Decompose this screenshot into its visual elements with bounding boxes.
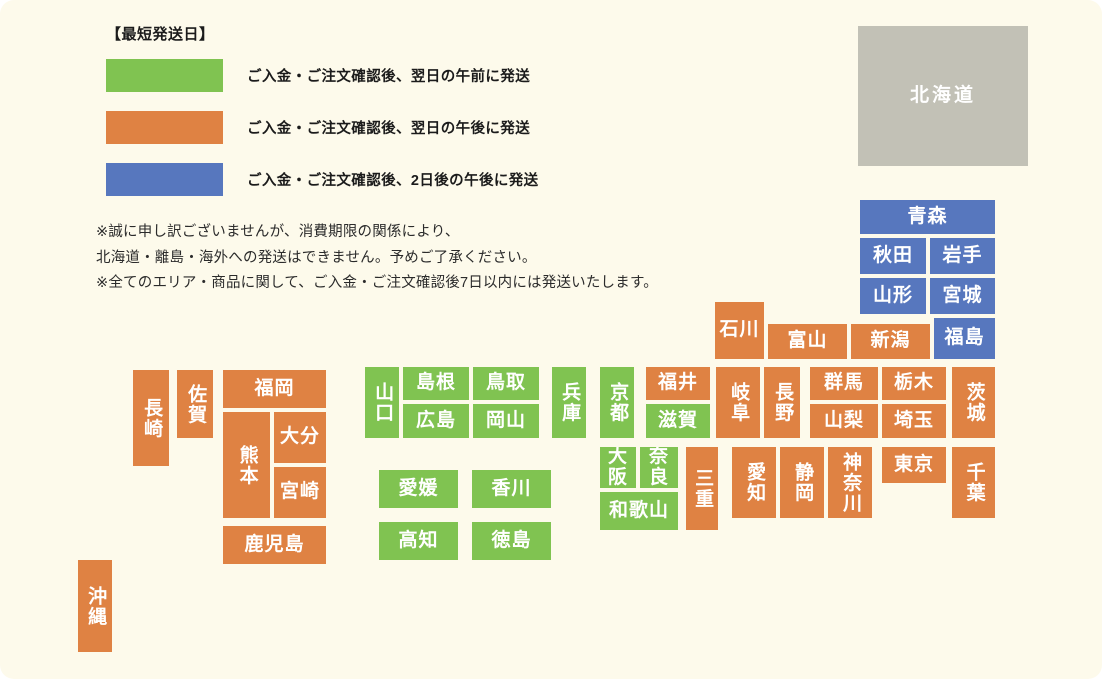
prefecture-tile[interactable]: 三重 — [684, 445, 720, 532]
prefecture-tile[interactable]: 島根 — [401, 365, 471, 402]
prefecture-tile[interactable]: 大分 — [272, 410, 328, 465]
prefecture-tile[interactable]: 埼玉 — [880, 402, 948, 440]
prefecture-label: 鳥取 — [486, 373, 526, 393]
prefecture-tile[interactable]: 熊本 — [221, 410, 272, 520]
prefecture-label: 岩手 — [942, 246, 982, 266]
prefecture-label: 徳島 — [491, 531, 531, 551]
prefecture-label: 広島 — [416, 411, 456, 431]
prefecture-label: 愛知 — [744, 462, 764, 503]
prefecture-label: 長崎 — [141, 398, 161, 439]
prefecture-label: 佐賀 — [185, 384, 205, 425]
prefecture-tile[interactable]: 京都 — [598, 365, 636, 440]
prefecture-tile[interactable]: 長野 — [762, 365, 802, 440]
prefecture-tile[interactable]: 愛媛 — [377, 468, 460, 510]
prefecture-tile[interactable]: 岡山 — [471, 402, 541, 440]
prefecture-tile[interactable]: 和歌山 — [598, 490, 680, 532]
prefecture-tile[interactable]: 山形 — [858, 276, 928, 316]
prefecture-tile[interactable]: 福島 — [932, 316, 997, 361]
prefecture-tile[interactable]: 沖縄 — [76, 558, 114, 654]
prefecture-label: 茨城 — [963, 382, 983, 423]
prefecture-label: 兵庫 — [559, 382, 579, 423]
prefecture-label: 島根 — [416, 373, 456, 393]
prefecture-tile[interactable]: 宮城 — [928, 276, 997, 316]
japan-prefecture-map: 北海道青森秋田岩手山形宮城福島石川富山新潟山口島根鳥取広島岡山兵庫京都福井滋賀岐… — [0, 0, 1102, 679]
prefecture-label: 和歌山 — [609, 501, 669, 521]
prefecture-tile[interactable]: 香川 — [470, 468, 553, 510]
prefecture-label: 静岡 — [792, 462, 812, 503]
prefecture-label: 滋賀 — [658, 411, 698, 431]
prefecture-tile[interactable]: 長崎 — [131, 368, 171, 468]
prefecture-label: 福島 — [944, 328, 984, 348]
prefecture-tile[interactable]: 秋田 — [858, 236, 928, 276]
prefecture-tile[interactable]: 宮崎 — [272, 465, 328, 520]
prefecture-label: 宮崎 — [280, 482, 320, 502]
prefecture-label: 青森 — [907, 207, 947, 227]
prefecture-label: 高知 — [398, 531, 438, 551]
prefecture-label: 北海道 — [910, 86, 976, 106]
prefecture-tile[interactable]: 愛知 — [730, 445, 778, 520]
prefecture-tile[interactable]: 福井 — [644, 365, 712, 402]
prefecture-tile[interactable]: 石川 — [713, 300, 766, 361]
prefecture-tile[interactable]: 青森 — [858, 198, 997, 236]
prefecture-label: 栃木 — [894, 373, 934, 393]
prefecture-label: 三重 — [692, 468, 712, 509]
prefecture-tile[interactable]: 東京 — [880, 445, 948, 485]
prefecture-label: 神奈川 — [840, 452, 860, 514]
prefecture-tile[interactable]: 山口 — [363, 365, 401, 440]
prefecture-label: 岡山 — [486, 411, 526, 431]
prefecture-tile[interactable]: 群馬 — [808, 365, 880, 402]
shipping-map-page: 【最短発送日】 ご入金・ご注文確認後、翌日の午前に発送ご入金・ご注文確認後、翌日… — [0, 0, 1102, 679]
prefecture-label: 大阪 — [600, 447, 636, 487]
prefecture-label: 秋田 — [873, 246, 913, 266]
prefecture-tile[interactable]: 福岡 — [221, 368, 328, 410]
prefecture-label: 福岡 — [254, 379, 294, 399]
prefecture-label: 山梨 — [824, 411, 864, 431]
prefecture-tile[interactable]: 千葉 — [950, 445, 997, 520]
prefecture-label: 新潟 — [870, 331, 910, 351]
prefecture-tile[interactable]: 北海道 — [858, 26, 1028, 166]
prefecture-label: 香川 — [491, 479, 531, 499]
prefecture-tile[interactable]: 高知 — [377, 520, 460, 562]
prefecture-tile[interactable]: 岐阜 — [714, 365, 762, 440]
prefecture-tile[interactable]: 広島 — [401, 402, 471, 440]
prefecture-tile[interactable]: 岩手 — [928, 236, 997, 276]
prefecture-label: 福井 — [658, 373, 698, 393]
prefecture-tile[interactable]: 茨城 — [950, 365, 997, 440]
prefecture-label: 埼玉 — [894, 411, 934, 431]
prefecture-tile[interactable]: 滋賀 — [644, 402, 712, 440]
prefecture-tile[interactable]: 大阪 — [598, 445, 638, 490]
prefecture-label: 石川 — [719, 320, 759, 340]
prefecture-tile[interactable]: 富山 — [766, 322, 849, 361]
prefecture-label: 宮城 — [942, 286, 982, 306]
prefecture-tile[interactable]: 栃木 — [880, 365, 948, 402]
prefecture-label: 大分 — [280, 427, 320, 447]
prefecture-tile[interactable]: 神奈川 — [826, 445, 874, 520]
prefecture-label: 富山 — [787, 331, 827, 351]
prefecture-tile[interactable]: 山梨 — [808, 402, 880, 440]
prefecture-label: 千葉 — [963, 462, 983, 503]
prefecture-label: 鹿児島 — [244, 535, 304, 555]
prefecture-tile[interactable]: 徳島 — [470, 520, 553, 562]
prefecture-tile[interactable]: 新潟 — [849, 322, 932, 361]
prefecture-label: 熊本 — [236, 445, 256, 486]
prefecture-label: 山形 — [873, 286, 913, 306]
prefecture-tile[interactable]: 兵庫 — [550, 365, 588, 440]
prefecture-label: 岐阜 — [728, 382, 748, 423]
prefecture-tile[interactable]: 奈良 — [638, 445, 680, 490]
prefecture-label: 奈良 — [640, 447, 678, 487]
prefecture-label: 東京 — [894, 455, 934, 475]
prefecture-label: 京都 — [607, 382, 627, 423]
prefecture-tile[interactable]: 静岡 — [778, 445, 826, 520]
prefecture-label: 沖縄 — [85, 586, 105, 627]
prefecture-tile[interactable]: 鹿児島 — [221, 524, 328, 566]
prefecture-label: 山口 — [372, 382, 392, 423]
prefecture-label: 群馬 — [824, 373, 864, 393]
prefecture-tile[interactable]: 鳥取 — [471, 365, 541, 402]
prefecture-label: 愛媛 — [398, 479, 438, 499]
prefecture-tile[interactable]: 佐賀 — [175, 368, 215, 440]
prefecture-label: 長野 — [772, 382, 792, 423]
